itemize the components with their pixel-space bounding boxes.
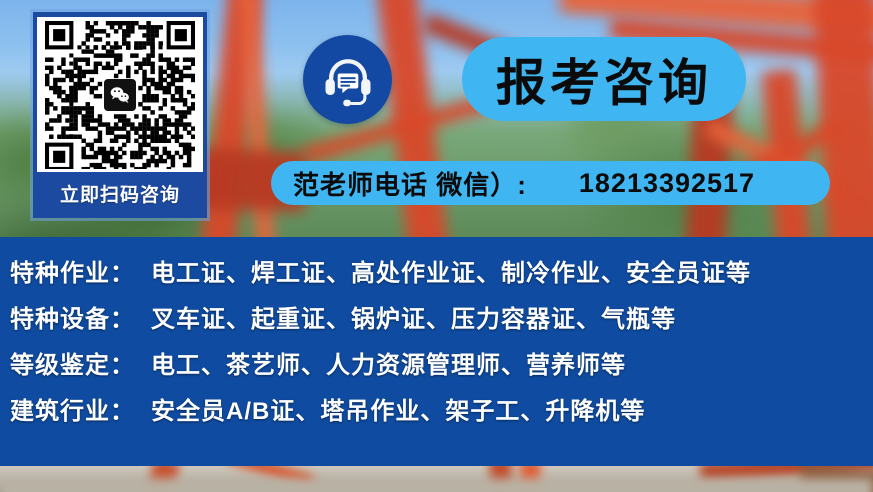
category-label: 建筑行业： [10,389,135,435]
course-categories-panel: 特种作业： 电工证、焊工证、高处作业证、制冷作业、安全员证等 特种设备： 叉车证… [0,237,873,466]
category-items: 电工、茶艺师、人力资源管理师、营养师等 [151,343,626,389]
category-row-grade-assessment: 等级鉴定： 电工、茶艺师、人力资源管理师、营养师等 [10,343,873,389]
category-items: 安全员A/B证、塔吊作业、架子工、升降机等 [151,389,645,435]
wechat-icon [104,79,136,111]
contact-phone-pill[interactable]: 范老师电话 微信）: 18213392517 [271,161,830,205]
category-items: 叉车证、起重证、锅炉证、压力容器证、气瓶等 [151,297,676,343]
phone-number[interactable]: 18213392517 [579,168,755,199]
promo-poster: 立即扫码咨询 报考咨询 范老师电话 微信）: 18213392517 [0,0,873,492]
category-row-special-operations: 特种作业： 电工证、焊工证、高处作业证、制冷作业、安全员证等 [10,251,873,297]
category-row-special-equipment: 特种设备： 叉车证、起重证、锅炉证、压力容器证、气瓶等 [10,297,873,343]
category-label: 特种作业： [10,251,135,297]
category-label: 特种设备： [10,297,135,343]
wechat-qr-code[interactable] [45,21,195,169]
qr-card[interactable]: 立即扫码咨询 [33,12,207,218]
title-pill: 报考咨询 [462,37,746,121]
bottom-photo-strip [0,466,873,492]
headset-support-icon [303,35,392,124]
title-text: 报考咨询 [496,43,712,115]
category-label: 等级鉴定： [10,343,135,389]
contact-label: 范老师电话 微信）: [293,165,527,202]
ground-surface [0,478,873,492]
category-row-construction-industry: 建筑行业： 安全员A/B证、塔吊作业、架子工、升降机等 [10,389,873,435]
category-items: 电工证、焊工证、高处作业证、制冷作业、安全员证等 [151,251,751,297]
qr-caption: 立即扫码咨询 [37,172,203,214]
qr-code-area[interactable] [37,17,203,172]
